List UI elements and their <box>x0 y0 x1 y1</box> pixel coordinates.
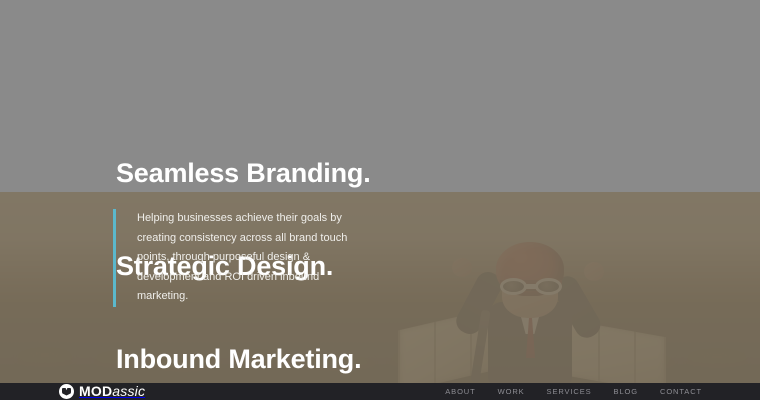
nav-item-blog[interactable]: BLOG <box>614 383 638 400</box>
brand-name-assic: assic <box>112 383 145 399</box>
nav-item-work[interactable]: WORK <box>498 383 525 400</box>
nav-item-about[interactable]: ABOUT <box>445 383 475 400</box>
brand-logo-link[interactable]: MODassic <box>59 383 145 400</box>
primary-nav: ABOUT WORK SERVICES BLOG CONTACT <box>445 383 702 400</box>
hero-overlay-top <box>0 0 760 192</box>
headline-line-1: Seamless Branding. <box>116 158 371 189</box>
brand-name: MODassic <box>79 384 145 399</box>
headline-line-3: Inbound Marketing. <box>116 344 371 375</box>
hero-section: Seamless Branding. Strategic Design. Inb… <box>0 0 760 400</box>
brand-name-mod: MOD <box>79 383 112 399</box>
modassic-logo-icon <box>59 384 74 399</box>
nav-item-services[interactable]: SERVICES <box>547 383 592 400</box>
footer-navbar: MODassic ABOUT WORK SERVICES BLOG CONTAC… <box>0 383 760 400</box>
nav-item-contact[interactable]: CONTACT <box>660 383 702 400</box>
hero-blurb: Helping businesses achieve their goals b… <box>113 209 373 307</box>
hero-blurb-text: Helping businesses achieve their goals b… <box>137 209 373 307</box>
